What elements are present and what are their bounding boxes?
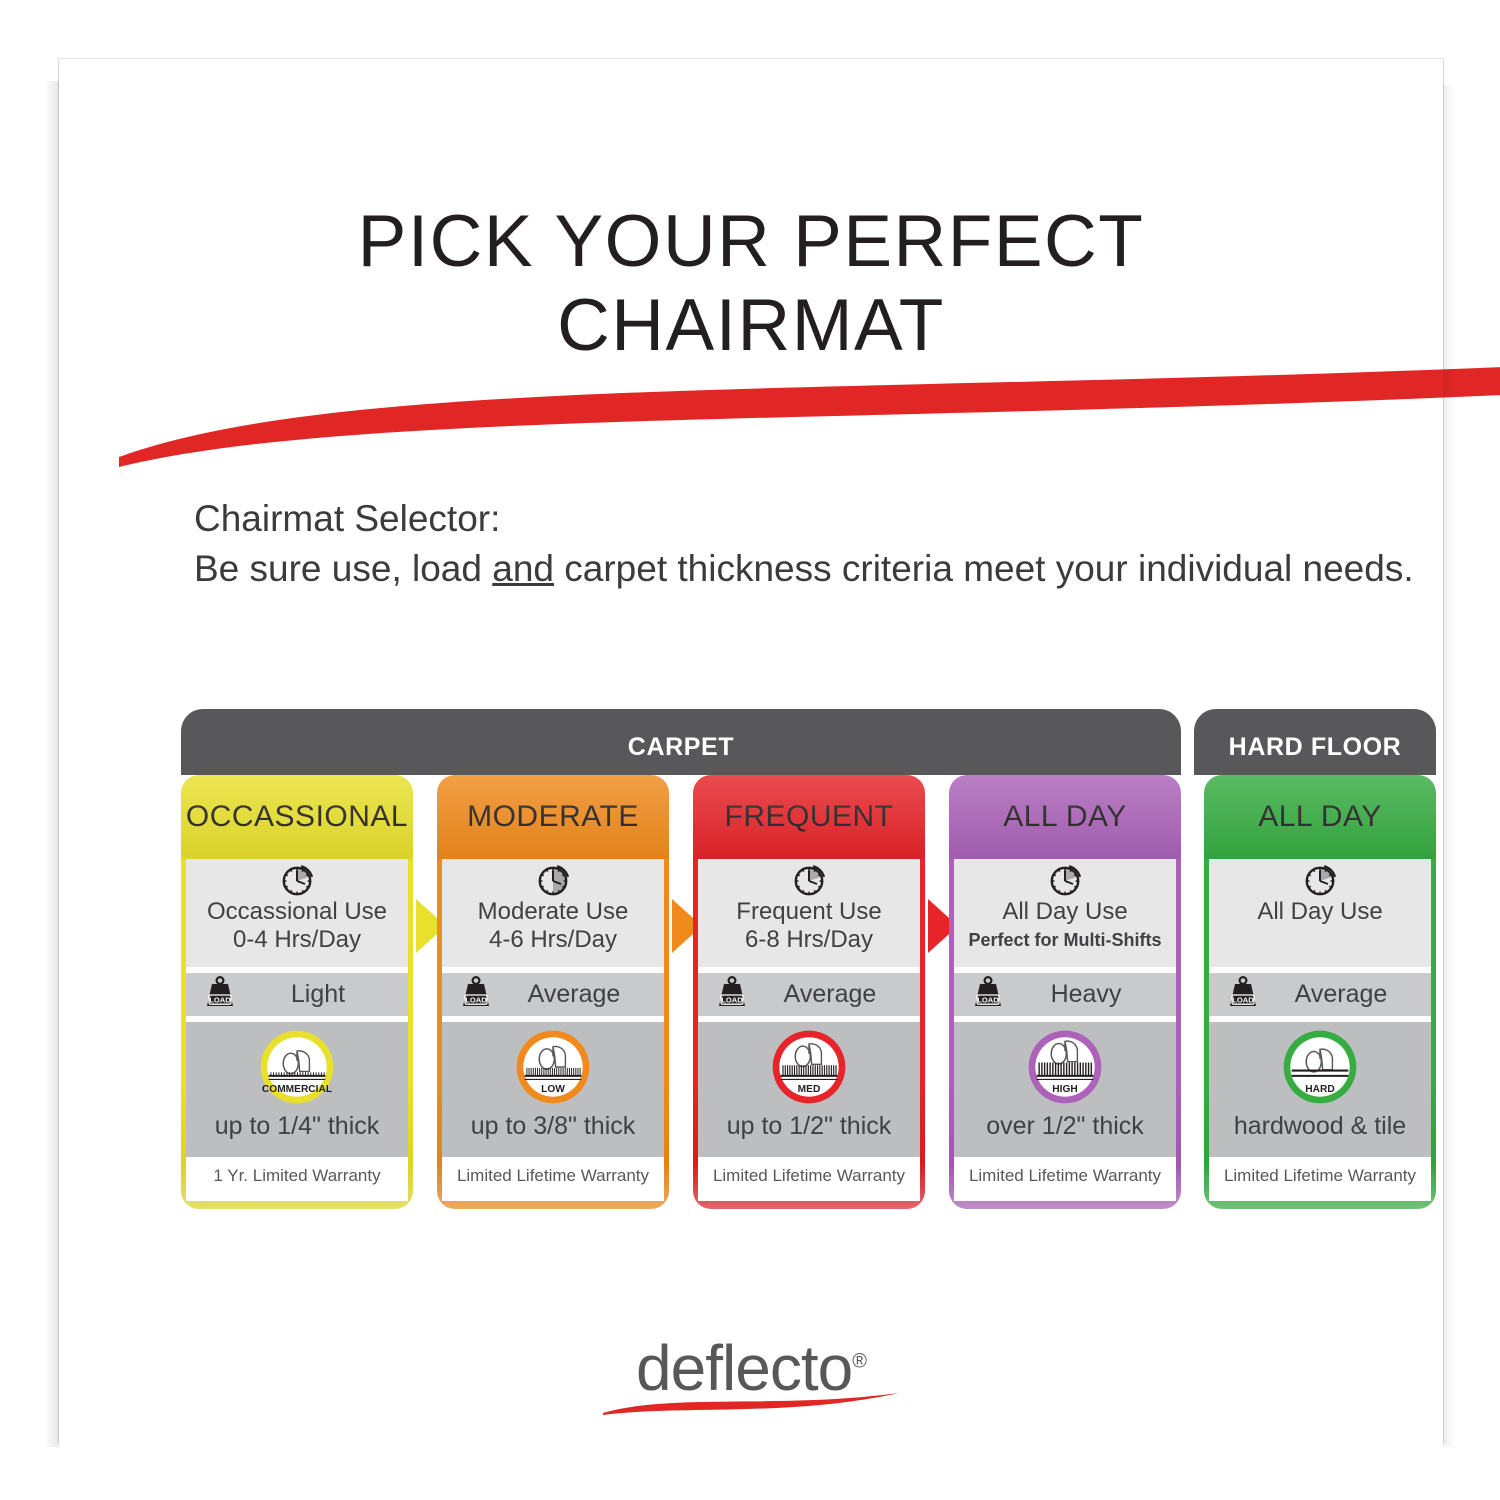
thickness-label: hardwood & tile: [1209, 1112, 1431, 1141]
carpet-pile-med-icon: MED: [698, 1028, 920, 1111]
selector-column-2[interactable]: MODERATE Moderate Use 4-6 Hrs/Day LOAD A…: [437, 775, 669, 1209]
column-body-5: All Day Use LOAD Average HARD: [1209, 859, 1431, 1163]
thickness-cell-1: COMMERCIAL up to 1/4" thick: [186, 1022, 408, 1157]
clock-icon: [186, 864, 408, 898]
use-label-primary: All Day Use: [954, 898, 1176, 926]
group-header-carpet: CARPET: [181, 709, 1181, 775]
use-cell-1: Occassional Use 0-4 Hrs/Day: [186, 859, 408, 967]
svg-text:HARD: HARD: [1305, 1084, 1334, 1095]
load-cell-3: LOAD Average: [698, 973, 920, 1016]
selector-column-3[interactable]: FREQUENT Frequent Use 6-8 Hrs/Day LOAD A…: [693, 775, 925, 1209]
column-body-4: All Day Use Perfect for Multi-Shifts LOA…: [954, 859, 1176, 1163]
column-header-2: MODERATE: [437, 775, 669, 859]
column-body-1: Occassional Use 0-4 Hrs/Day LOAD Light C…: [186, 859, 408, 1163]
column-header-4: ALL DAY: [949, 775, 1181, 859]
use-label-primary: Frequent Use: [698, 898, 920, 926]
load-cell-4: LOAD Heavy: [954, 973, 1176, 1016]
page-title-line1: PICK YOUR PERFECT: [59, 197, 1443, 286]
svg-text:COMMERCIAL: COMMERCIAL: [262, 1084, 332, 1095]
chairmat-selector-table: CARPET HARD FLOOR OCCASSIONAL Occassiona…: [181, 709, 1436, 1209]
thickness-label: up to 1/2" thick: [698, 1112, 920, 1141]
svg-text:MED: MED: [798, 1084, 821, 1095]
thickness-cell-4: HIGH over 1/2" thick: [954, 1022, 1176, 1157]
intro-body-emphasis: and: [492, 548, 554, 589]
thickness-cell-2: LOW up to 3/8" thick: [442, 1022, 664, 1157]
warranty-cell-2: Limited Lifetime Warranty: [442, 1161, 664, 1201]
intro-copy: Chairmat Selector: Be sure use, load and…: [194, 494, 1414, 594]
warranty-cell-3: Limited Lifetime Warranty: [698, 1161, 920, 1201]
thickness-cell-3: MED up to 1/2" thick: [698, 1022, 920, 1157]
page-title-line2: CHAIRMAT: [59, 281, 1443, 370]
carpet-pile-commercial-icon: COMMERCIAL: [186, 1028, 408, 1111]
column-header-5: ALL DAY: [1204, 775, 1436, 859]
clock-icon: [954, 864, 1176, 898]
load-label: Average: [740, 980, 920, 1009]
column-header-3: FREQUENT: [693, 775, 925, 859]
load-label: Average: [484, 980, 664, 1009]
carpet-pile-low-icon: LOW: [442, 1028, 664, 1111]
intro-body-pre: Be sure use, load: [194, 548, 492, 589]
poster-canvas: PICK YOUR PERFECT CHAIRMAT Chairmat Sele…: [0, 0, 1500, 1500]
use-cell-5: All Day Use: [1209, 859, 1431, 967]
use-label-secondary: 6-8 Hrs/Day: [698, 926, 920, 954]
svg-text:LOW: LOW: [541, 1084, 565, 1095]
clock-half-icon: [442, 864, 664, 898]
load-label: Heavy: [996, 980, 1176, 1009]
thickness-label: up to 1/4" thick: [186, 1112, 408, 1141]
thickness-cell-5: HARD hardwood & tile: [1209, 1022, 1431, 1157]
selector-column-4[interactable]: ALL DAY All Day Use Perfect for Multi-Sh…: [949, 775, 1181, 1209]
use-label-primary: All Day Use: [1209, 898, 1431, 926]
use-label-primary: Occassional Use: [186, 898, 408, 926]
poster-frame: PICK YOUR PERFECT CHAIRMAT Chairmat Sele…: [58, 58, 1444, 1443]
use-cell-2: Moderate Use 4-6 Hrs/Day: [442, 859, 664, 967]
use-cell-3: Frequent Use 6-8 Hrs/Day: [698, 859, 920, 967]
load-cell-1: LOAD Light: [186, 973, 408, 1016]
logo-text: deflecto: [636, 1332, 852, 1404]
selector-column-1[interactable]: OCCASSIONAL Occassional Use 0-4 Hrs/Day …: [181, 775, 413, 1209]
clock-icon: [1209, 864, 1431, 898]
use-label-primary: Moderate Use: [442, 898, 664, 926]
column-body-2: Moderate Use 4-6 Hrs/Day LOAD Average LO…: [442, 859, 664, 1163]
warranty-cell-4: Limited Lifetime Warranty: [954, 1161, 1176, 1201]
thickness-label: up to 3/8" thick: [442, 1112, 664, 1141]
use-label-secondary: Perfect for Multi-Shifts: [954, 926, 1176, 952]
use-cell-4: All Day Use Perfect for Multi-Shifts: [954, 859, 1176, 967]
group-header-hard-floor: HARD FLOOR: [1194, 709, 1436, 775]
thickness-label: over 1/2" thick: [954, 1112, 1176, 1141]
deflecto-logo: deflecto®: [59, 1331, 1443, 1417]
intro-body: Be sure use, load and carpet thickness c…: [194, 544, 1414, 594]
use-label-secondary: 4-6 Hrs/Day: [442, 926, 664, 954]
column-body-3: Frequent Use 6-8 Hrs/Day LOAD Average ME…: [698, 859, 920, 1163]
brand-wave-divider: [119, 359, 1500, 469]
load-cell-5: LOAD Average: [1209, 973, 1431, 1016]
carpet-pile-high-icon: HIGH: [954, 1028, 1176, 1111]
column-header-1: OCCASSIONAL: [181, 775, 413, 859]
load-label: Light: [228, 980, 408, 1009]
warranty-cell-1: 1 Yr. Limited Warranty: [186, 1161, 408, 1201]
load-label: Average: [1251, 980, 1431, 1009]
use-label-secondary: 0-4 Hrs/Day: [186, 926, 408, 954]
intro-body-post: carpet thickness criteria meet your indi…: [554, 548, 1414, 589]
registered-mark: ®: [852, 1351, 866, 1373]
load-cell-2: LOAD Average: [442, 973, 664, 1016]
warranty-cell-5: Limited Lifetime Warranty: [1209, 1161, 1431, 1201]
intro-heading: Chairmat Selector:: [194, 494, 1414, 544]
hard-floor-icon: HARD: [1209, 1028, 1431, 1111]
svg-text:HIGH: HIGH: [1052, 1084, 1077, 1095]
logo-wordmark: deflecto®: [636, 1331, 866, 1405]
selector-column-5[interactable]: ALL DAY All Day Use LOAD Average: [1204, 775, 1436, 1209]
clock-icon: [698, 864, 920, 898]
